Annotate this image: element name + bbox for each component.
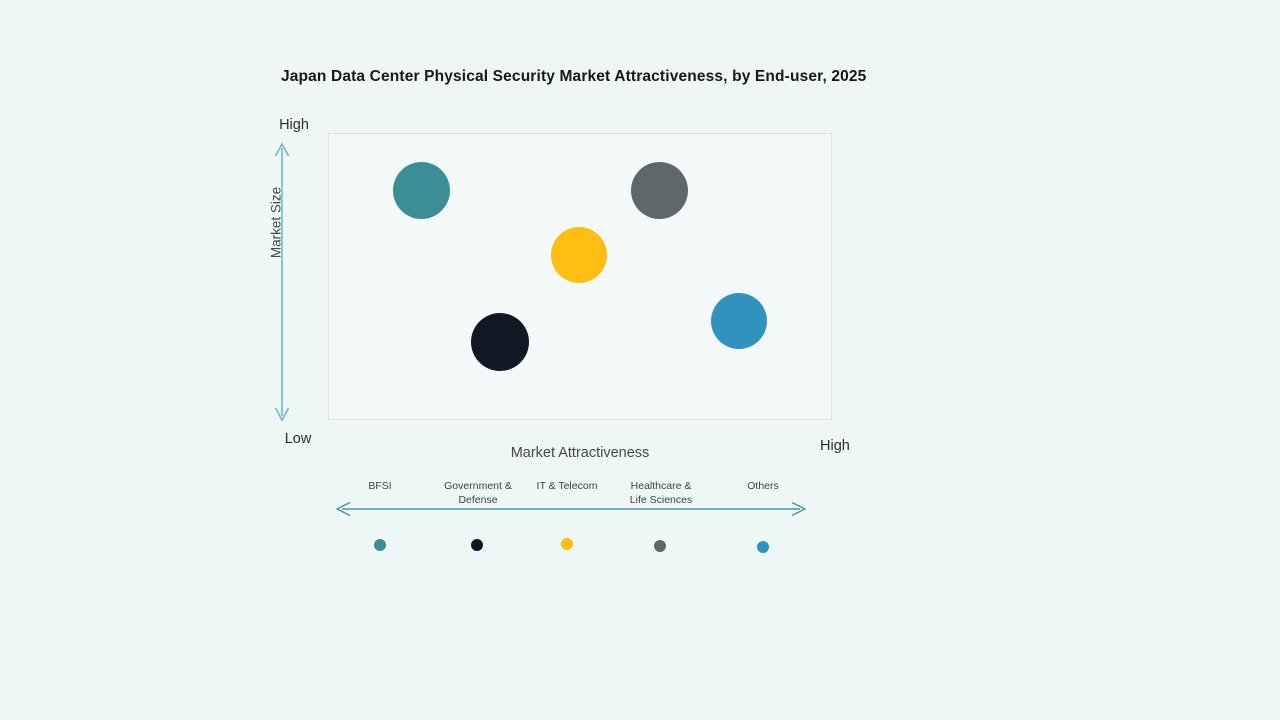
legend-dot-government-defense[interactable] [471, 539, 483, 551]
legend-dot-others[interactable] [757, 541, 769, 553]
legend-scale-arrow [332, 498, 810, 520]
y-axis-label-low: Low [262, 431, 334, 447]
legend-scale-arrow-svg [332, 498, 810, 520]
bubble-it-telecom[interactable] [551, 227, 607, 283]
legend-label-others: Others [693, 480, 833, 494]
legend-dot-bfsi[interactable] [374, 539, 386, 551]
bubble-others[interactable] [711, 293, 767, 349]
x-axis-title: Market Attractiveness [420, 445, 740, 461]
chart-title: Japan Data Center Physical Security Mark… [281, 68, 981, 86]
bubble-bfsi[interactable] [393, 162, 450, 219]
bubble-healthcare-life-sciences[interactable] [631, 162, 688, 219]
x-axis-label-high: High [820, 438, 890, 454]
y-axis-title: Market Size [269, 163, 284, 283]
legend-dot-it-telecom[interactable] [561, 538, 573, 550]
legend-dot-healthcare-life-sciences[interactable] [654, 540, 666, 552]
bubble-government-defense[interactable] [471, 313, 529, 371]
y-axis-label-high: High [258, 117, 330, 133]
chart-canvas: Japan Data Center Physical Security Mark… [0, 0, 1280, 720]
